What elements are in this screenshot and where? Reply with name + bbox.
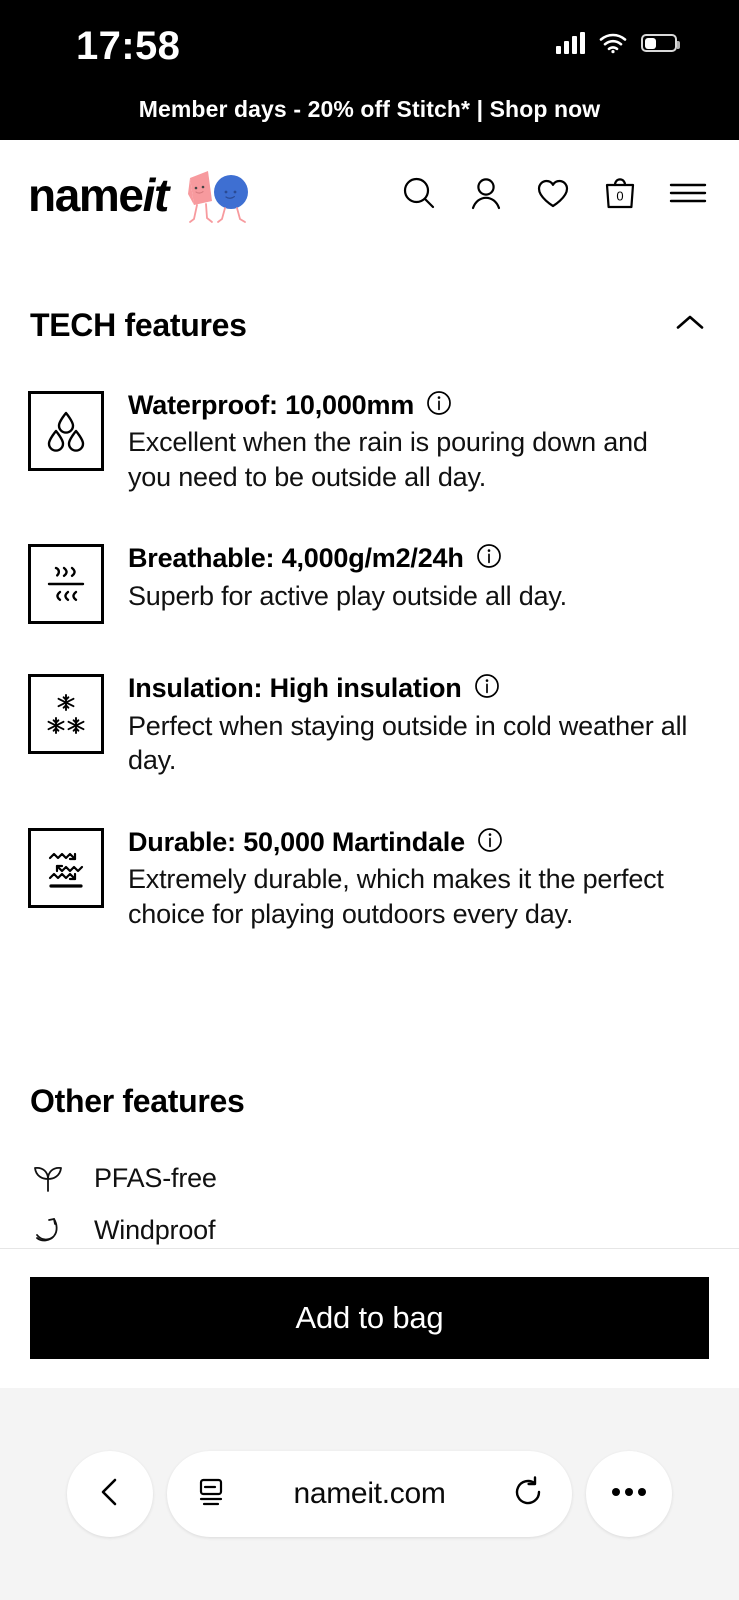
shopping-bag-icon[interactable]: 0: [600, 173, 640, 218]
waterproof-droplets-icon: [28, 391, 104, 471]
tech-feature-title: Insulation: High insulation: [128, 672, 462, 704]
tech-feature-title-row: Durable: 50,000 Martindale: [128, 826, 711, 858]
other-features-header: Other features: [28, 1027, 711, 1120]
tech-features-title: TECH features: [30, 307, 247, 344]
header-nav-icons: 0: [399, 173, 709, 218]
other-feature-item: PFAS-free: [28, 1152, 711, 1204]
info-icon[interactable]: [426, 390, 452, 421]
site-header: nameit: [0, 140, 739, 250]
status-bar-indicators: [556, 32, 677, 54]
tech-feature-item: Durable: 50,000 Martindale Extremely dur…: [28, 824, 711, 931]
other-feature-label: Windproof: [94, 1215, 215, 1246]
leaf-icon: [28, 1158, 68, 1198]
info-icon[interactable]: [476, 543, 502, 574]
tech-features-list: Waterproof: 10,000mm Excellent when the …: [28, 387, 711, 931]
browser-address-bar[interactable]: nameit.com: [167, 1451, 572, 1537]
chevron-up-icon[interactable]: [673, 306, 709, 345]
wifi-icon: [599, 32, 627, 54]
page-reader-icon[interactable]: [193, 1474, 229, 1515]
browser-more-button[interactable]: [586, 1451, 672, 1537]
search-icon[interactable]: [399, 173, 439, 218]
tech-feature-body: Waterproof: 10,000mm Excellent when the …: [128, 387, 711, 494]
battery-icon: [641, 34, 677, 52]
tech-feature-title: Breathable: 4,000g/m2/24h: [128, 542, 464, 574]
account-icon[interactable]: [466, 173, 506, 218]
chevron-left-icon: [92, 1474, 128, 1515]
tech-feature-title-row: Insulation: High insulation: [128, 672, 711, 704]
tech-feature-description: Perfect when staying outside in cold wea…: [128, 709, 688, 778]
bag-count-label: 0: [616, 188, 623, 203]
brand-logo-name: name: [28, 169, 143, 221]
tech-feature-description: Excellent when the rain is pouring down …: [128, 425, 688, 494]
info-icon[interactable]: [477, 827, 503, 858]
insulation-snowflake-icon: [28, 674, 104, 754]
durable-abrasion-icon: [28, 828, 104, 908]
sticky-cta-bar: Add to bag: [0, 1248, 739, 1388]
tech-features-header[interactable]: TECH features: [28, 250, 711, 345]
wishlist-heart-icon[interactable]: [533, 173, 573, 218]
add-to-bag-button[interactable]: Add to bag: [30, 1277, 709, 1359]
more-dots-icon: [609, 1485, 649, 1503]
tech-feature-title: Durable: 50,000 Martindale: [128, 826, 465, 858]
brand-logo[interactable]: nameit: [28, 164, 254, 226]
tech-feature-item: Breathable: 4,000g/m2/24h Superb for act…: [28, 540, 711, 624]
other-feature-label: PFAS-free: [94, 1163, 217, 1194]
product-details-content: TECH features Waterp: [0, 250, 739, 1360]
status-bar-clock: 17:58: [76, 24, 180, 69]
brand-logo-it: it: [143, 169, 168, 221]
browser-back-button[interactable]: [67, 1451, 153, 1537]
tech-feature-title: Waterproof: 10,000mm: [128, 389, 414, 421]
other-features-title: Other features: [30, 1083, 245, 1120]
tech-feature-body: Insulation: High insulation Perfect when…: [128, 670, 711, 777]
mobile-screen: 17:58 Member days - 20% off Stitch* | Sh…: [0, 0, 739, 1600]
tech-feature-description: Superb for active play outside all day.: [128, 579, 688, 614]
tech-feature-item: Waterproof: 10,000mm Excellent when the …: [28, 387, 711, 494]
wind-swirl-icon: [28, 1210, 68, 1250]
hamburger-menu-icon[interactable]: [667, 173, 709, 218]
brand-logo-text: nameit: [28, 172, 168, 218]
browser-toolbar: nameit.com: [0, 1388, 739, 1600]
tech-feature-title-row: Breathable: 4,000g/m2/24h: [128, 542, 711, 574]
cellular-signal-icon: [556, 32, 585, 54]
tech-feature-title-row: Waterproof: 10,000mm: [128, 389, 711, 421]
browser-url-text[interactable]: nameit.com: [229, 1477, 510, 1511]
tech-feature-body: Durable: 50,000 Martindale Extremely dur…: [128, 824, 711, 931]
reload-icon[interactable]: [510, 1474, 546, 1515]
tech-feature-description: Extremely durable, which makes it the pe…: [128, 862, 688, 931]
info-icon[interactable]: [474, 673, 500, 704]
tech-feature-body: Breathable: 4,000g/m2/24h Superb for act…: [128, 540, 711, 613]
mascot-characters-icon: [168, 164, 254, 226]
status-bar: 17:58 Member days - 20% off Stitch* | Sh…: [0, 0, 739, 140]
tech-feature-item: Insulation: High insulation Perfect when…: [28, 670, 711, 777]
promo-banner-text[interactable]: Member days - 20% off Stitch* | Shop now: [0, 96, 739, 123]
breathable-vapor-icon: [28, 544, 104, 624]
